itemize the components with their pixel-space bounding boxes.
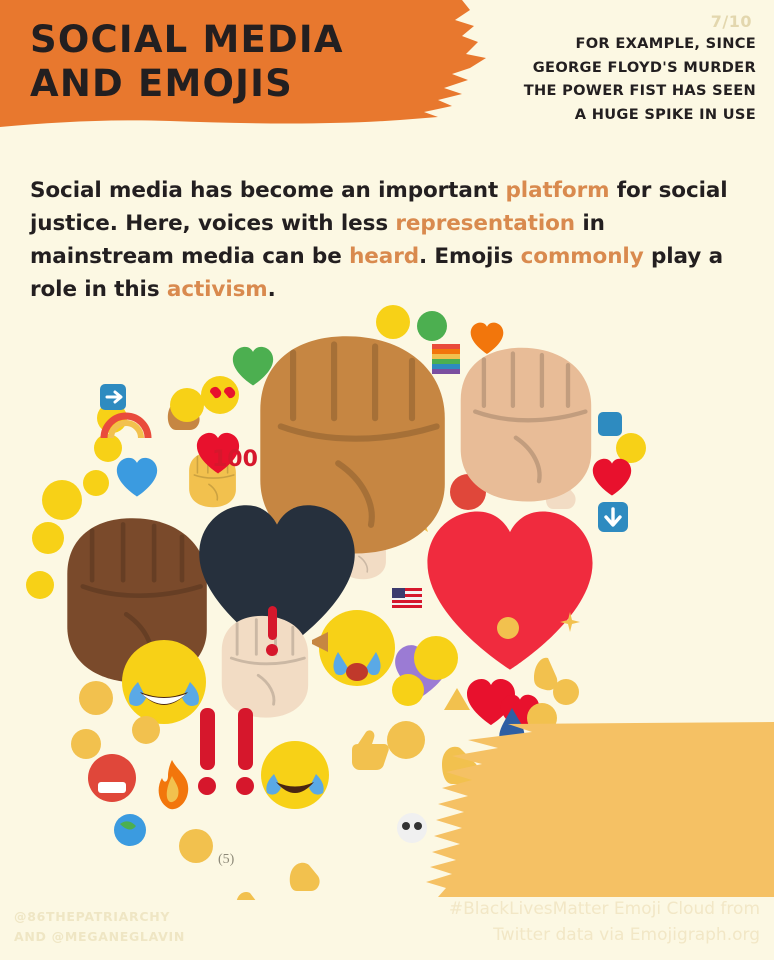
clapping-hands-icon-bottom	[290, 863, 320, 891]
exclamation-bar-1	[200, 708, 215, 770]
pleading-face-icon	[83, 470, 109, 496]
data-credit-line-2: Twitter data via Emojigraph.org	[449, 923, 760, 949]
folded-hands-icon-lowest	[236, 892, 261, 900]
folded-hands-icon-right	[534, 658, 557, 691]
svg-text:100: 100	[212, 447, 258, 472]
callout-text: FOR EXAMPLE, SINCE GEORGE FLOYD'S MURDER…	[488, 32, 756, 127]
callout-line-1: FOR EXAMPLE, SINCE	[488, 32, 756, 56]
data-credit: #BlackLivesMatter Emoji Cloud from Twitt…	[449, 897, 760, 948]
highlight-heard: heard	[349, 244, 419, 269]
highlight-activism: activism	[167, 277, 268, 302]
grinning-squinting-face-icon	[170, 388, 204, 422]
author-handles: @86THEPATRIARCHY AND @MEGANEGLAVIN	[14, 907, 185, 946]
star-struck-face-icon	[376, 305, 410, 339]
woozy-face-icon	[414, 636, 458, 680]
globe-icon	[114, 814, 146, 846]
face-with-open-mouth-icon	[392, 674, 424, 706]
callout-banner	[412, 722, 774, 897]
body-text-segment-6: .	[268, 277, 276, 302]
body-text-segment-1: Social media has become an important	[30, 178, 506, 203]
unamused-face-icon	[32, 522, 64, 554]
callout-line-2: GEORGE FLOYD'S MURDER	[488, 56, 756, 80]
infographic-slide: SOCIAL MEDIA AND EMOJIS 7/10 Social medi…	[0, 0, 774, 960]
face-icon-left-edge	[26, 571, 54, 599]
blue-heart-icon	[117, 458, 157, 497]
callout-line-3: THE POWER FIST HAS SEEN	[488, 79, 756, 103]
face-icon-bottom-left	[79, 681, 113, 715]
sun-icon	[497, 617, 519, 639]
fire-icon	[159, 760, 189, 809]
exclamation-bar-2	[238, 708, 253, 770]
oncoming-fist-light-center	[222, 616, 308, 718]
highlight-representation: representation	[395, 211, 575, 236]
body-paragraph: Social media has become an important pla…	[30, 174, 742, 307]
thumbs-up-icon	[352, 730, 389, 770]
orange-heart-icon	[471, 323, 504, 354]
blue-square-icon	[598, 412, 622, 436]
warning-sign-icon	[444, 688, 470, 710]
page-title: SOCIAL MEDIA AND EMOJIS	[30, 18, 470, 105]
author-handle-secondary: AND @MEGANEGLAVIN	[14, 927, 185, 946]
data-credit-line-1: #BlackLivesMatter Emoji Cloud from	[449, 897, 760, 923]
nauseated-face-icon	[417, 311, 447, 341]
thinking-face-icon	[42, 480, 82, 520]
raised-fist-light-skin	[461, 348, 592, 502]
exclamation-dot-2	[236, 777, 254, 795]
highlight-commonly: commonly	[521, 244, 644, 269]
skull-eye-left	[402, 822, 410, 830]
face-with-tears-of-joy-bottom	[261, 741, 329, 809]
rainbow-icon-inner	[111, 423, 141, 438]
smiling-face-icon-bottom	[179, 829, 213, 863]
hundred-points-icon: 100	[212, 447, 258, 472]
face-icon-top-right	[616, 433, 646, 463]
face-icon-lower-small-2	[132, 716, 160, 744]
page-title-line-1: SOCIAL MEDIA	[30, 18, 470, 62]
united-states-flag-icon	[392, 588, 422, 608]
angry-mouth	[98, 782, 126, 793]
crying-mouth	[346, 663, 368, 681]
rainbow-flag-icon	[432, 344, 460, 374]
face-with-tears-of-joy-left	[122, 640, 206, 724]
exclamation-dot-1	[198, 777, 216, 795]
pensive-face-icon	[94, 434, 122, 462]
highlight-platform: platform	[506, 178, 610, 203]
callout-banner-shape	[426, 722, 774, 897]
double-exclamation-mark	[198, 708, 254, 795]
yellow-face-icon-right	[553, 679, 579, 705]
callout-line-4: A HUGE SPIKE IN USE	[488, 103, 756, 127]
author-handle-primary: @86THEPATRIARCHY	[14, 907, 185, 926]
page-counter: 7/10	[711, 12, 752, 31]
red-heart-icon-top-right	[593, 459, 631, 496]
face-icon-lower-small	[71, 729, 101, 759]
angry-face-icon	[88, 754, 136, 802]
citation-marker: (5)	[218, 852, 234, 868]
page-title-line-2: AND EMOJIS	[30, 62, 470, 106]
body-text-segment-4: . Emojis	[419, 244, 521, 269]
